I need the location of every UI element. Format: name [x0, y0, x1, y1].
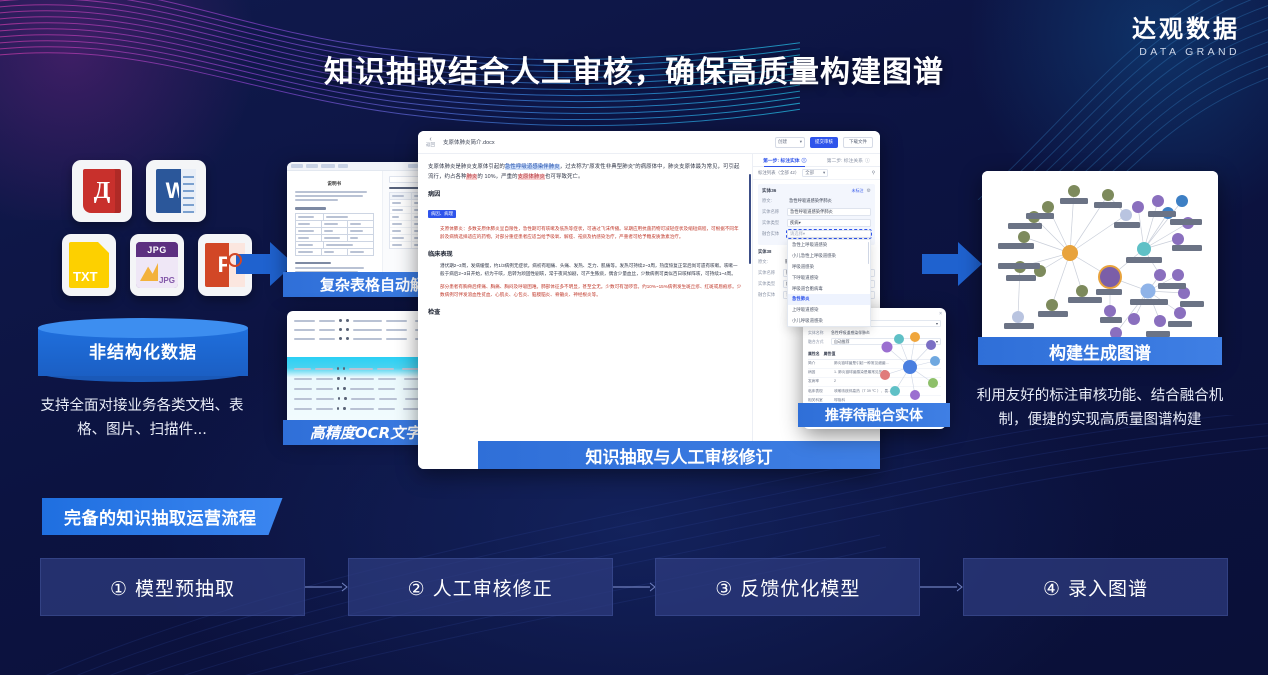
info-icon: ⓘ [802, 157, 807, 164]
col-header: 属性值 [824, 351, 836, 357]
flow-step-1[interactable]: ① 模型预抽取 [40, 558, 305, 616]
flow-steps: ① 模型预抽取 ② 人工审核修正 ③ 反馈优化模型 ④ 录入图谱 [40, 558, 1228, 616]
brand-name-cn: 达观数据 [1132, 16, 1240, 42]
entity-field-key: 原文: [758, 259, 780, 265]
left-caption: 支持全面对接业务各类文档、表格、图片、扫描件... [30, 395, 254, 443]
search-icon[interactable]: ⚲ [872, 170, 875, 176]
entity-field-row: 融合实体 请选择 ▾ 急性上呼吸道感染 小儿急性上呼吸道感染 呼吸道感染 下呼吸… [762, 230, 871, 238]
txt-file-icon: TXT [62, 234, 116, 296]
tab-annotate-entity[interactable]: 第一步: 标注实体 ⓘ [753, 154, 817, 166]
dropdown-option[interactable]: 呼吸道感染 [788, 262, 870, 273]
flow-step-2[interactable]: ② 人工审核修正 [348, 558, 613, 616]
jpg-file-icon: JPG [130, 234, 184, 296]
chevron-down-icon: ▾ [799, 220, 801, 226]
doc-highlight-3: 支原体肺炎 [518, 174, 545, 180]
dropdown-option[interactable]: 小儿急性上呼吸道感染 [788, 251, 870, 262]
cell-key: 病因 [808, 370, 830, 375]
annotation-filter-row: 标注列表（全部 42） 全部 ▾ ⚲ [753, 167, 880, 180]
submit-review-button[interactable]: 提交审核 [810, 137, 838, 148]
document-pane[interactable]: 支原体肺炎是肺炎支原体引起的急性呼吸道感染伴肺炎，过去称为"原发性非典型肺炎"的… [418, 154, 752, 469]
knowledge-graph-canvas[interactable] [982, 171, 1218, 356]
dropdown-option[interactable]: 小儿呼吸道感染 [788, 315, 870, 326]
merge-entity-placeholder: 请选择 [790, 231, 803, 237]
doc-text-d: 也可导致死亡。 [545, 174, 583, 180]
filter-value: 全部 [805, 170, 814, 176]
entity-field-row: 实体类型 疾病 ▾ [762, 219, 871, 227]
cell-key: 简介 [808, 361, 830, 366]
document-heading-3: 检查 [428, 307, 742, 316]
entity-field-key: 实体类型 [762, 220, 784, 226]
flow-arrow-3 [920, 581, 963, 593]
close-icon[interactable]: × [939, 311, 942, 317]
popup-row-value: 自动推荐 [834, 339, 850, 345]
dropdown-option[interactable]: 上呼吸道感染 [788, 305, 870, 316]
flow-step-4[interactable]: ④ 录入图谱 [963, 558, 1228, 616]
caption-graph: 构建生成图谱 [978, 337, 1222, 365]
dropdown-option[interactable]: 下呼吸道感染 [788, 272, 870, 283]
entity-field-key: 实体名称 [758, 270, 780, 276]
doc-text-c: 的 10%，严重的 [477, 174, 517, 180]
flow-step-3[interactable]: ③ 反馈优化模型 [655, 558, 920, 616]
doc-text-a: 支原体肺炎是肺炎支原体引起的 [428, 164, 505, 170]
flow-arrow-1 [305, 581, 348, 593]
entity-field-key: 融合实体 [762, 231, 784, 237]
merge-entity-select[interactable]: 请选择 ▾ [787, 230, 871, 238]
back-button[interactable]: ‹ 返回 [426, 136, 435, 149]
document-small-text-3: 部分患者有胸骨后疼痛、胸痛、胸闷及呼吸困难。肺部体征多不明显，甚至全无。少数可有… [428, 283, 742, 300]
app-header: ‹ 返回 支原体肺炎简介.docx 创建 ▾ 提交审核 下载文件 [418, 131, 880, 154]
pdf-file-icon: Д [72, 160, 132, 222]
gear-icon[interactable]: ⚙ [867, 188, 871, 194]
create-select[interactable]: 创建 ▾ [775, 137, 805, 148]
popup-row-key: 融合方式 [808, 339, 828, 345]
tab-1-label: 第一步: 标注实体 [763, 157, 800, 164]
dropdown-option-selected[interactable]: 急性肺炎 [788, 294, 870, 305]
graph-node-hub-blue [1141, 284, 1156, 299]
file-type-icons: Д W TXT JPG P [62, 160, 252, 296]
word-file-icon: W [146, 160, 206, 222]
graph-node-hub-teal [1137, 242, 1151, 256]
caption-main-app: 知识抽取与人工审核修订 [478, 441, 880, 469]
word-file-letter: W [156, 169, 196, 213]
graph-node-center [1099, 266, 1121, 288]
doc-highlight-2: 肺炎 [466, 174, 477, 180]
entity-field-key: 原文: [762, 198, 784, 204]
chevron-down-icon: ▾ [800, 139, 802, 145]
caption-recommend: 推荐待融合实体 [798, 403, 950, 427]
entity-field-row: 实体名称 急性呼吸道感染伴肺炎 [762, 208, 871, 216]
entity-card-status: 未标注 [852, 188, 864, 194]
unstructured-data-cylinder: 非结构化数据 [38, 318, 248, 388]
entity-field-key: 实体类型 [758, 281, 780, 287]
popup-mini-graph [875, 325, 945, 407]
txt-file-letter: TXT [69, 242, 109, 288]
entity-field-value: 急性呼吸道感染伴肺炎 [787, 197, 871, 205]
back-label: 返回 [426, 143, 435, 148]
filter-label: 标注列表（全部 42） [758, 170, 799, 176]
file-name: 支原体肺炎简介.docx [443, 138, 495, 146]
dropdown-option[interactable]: 急性上呼吸道感染 [788, 240, 870, 251]
info-icon: ⓘ [865, 157, 870, 164]
entity-name-input[interactable]: 急性呼吸道感染伴肺炎 [787, 208, 871, 216]
chevron-down-icon: ▾ [823, 170, 825, 176]
page-title: 知识抽取结合人工审核，确保高质量构建图谱 [0, 47, 1268, 91]
entity-2-title: 实体38 [758, 249, 780, 255]
entity-type-select[interactable]: 疾病 ▾ [787, 219, 871, 227]
create-select-value: 创建 [778, 139, 787, 145]
cell-key: 临床表现 [808, 389, 830, 394]
document-scrollbar[interactable] [749, 174, 751, 264]
right-caption: 利用友好的标注审核功能、结合融合机制，便捷的实现高质量图谱构建 [975, 385, 1225, 433]
download-file-button[interactable]: 下载文件 [843, 137, 873, 148]
slide-root: 达观数据 DATA GRAND 知识抽取结合人工审核，确保高质量构建图谱 Д W… [0, 0, 1268, 675]
col-header: 属性名 [808, 351, 820, 357]
document-heading-2: 临床表现 [428, 249, 742, 258]
entity-type-value: 疾病 [790, 220, 799, 226]
cell-key: 发病率 [808, 379, 830, 384]
tab-annotate-relation[interactable]: 第二步: 标注关系 ⓘ [817, 154, 881, 166]
entity-field-row: 原文: 急性呼吸道感染伴肺炎 [762, 197, 871, 205]
dropdown-scrollbar[interactable] [868, 242, 870, 264]
entity-field-key: 实体名称 [762, 209, 784, 215]
entity-card[interactable]: 实体36 未标注 ⚙ 原文: 急性呼吸道感染伴肺炎 实体名称 急性呼吸道感染伴肺… [758, 184, 875, 245]
arrow-right-2 [922, 240, 984, 288]
popup-row-key: 实体名称 [808, 330, 828, 336]
merge-entity-dropdown[interactable]: 急性上呼吸道感染 小儿急性上呼吸道感染 呼吸道感染 下呼吸道感染 呼吸道合胞病毒… [787, 239, 871, 327]
jpg-file-letter: JPG [136, 242, 178, 257]
graph-node-hub-orange [1062, 245, 1078, 261]
entity-card-title: 实体36 [762, 188, 776, 194]
chevron-down-icon: ▾ [803, 231, 805, 237]
tab-2-label: 第二步: 标注关系 [827, 157, 863, 164]
flow-badge: 完备的知识抽取运营流程 [42, 498, 283, 535]
document-heading-1: 病因 [428, 189, 742, 198]
cylinder-label: 非结构化数据 [38, 338, 248, 363]
dropdown-option[interactable]: 呼吸道合胞病毒 [788, 283, 870, 294]
document-small-text-2: 潜伏期2~3周，发病缓慢，约1/3病例无症状。病初有咽痛、头痛、发热、乏力、肌痛… [428, 262, 742, 279]
cell-value: 2 [834, 379, 836, 384]
document-paragraph-1: 支原体肺炎是肺炎支原体引起的急性呼吸道感染伴肺炎，过去称为"原发性非典型肺炎"的… [428, 162, 742, 182]
entity-field-key: 融合实体 [758, 292, 780, 298]
screenshot-knowledge-graph[interactable]: 实体类型 关系类型 [982, 171, 1218, 356]
filter-select[interactable]: 全部 ▾ [802, 169, 828, 177]
doc-highlight-1: 急性呼吸道感染伴肺炎 [505, 164, 560, 170]
document-small-text-1: 支原体肺炎：多数支原体肺炎呈自限性，急性期可有咳嗽及低热等症状，可通过飞沫传播。… [428, 225, 742, 242]
document-tag-1: 病因、病理 [428, 210, 456, 218]
flow-arrow-2 [613, 581, 656, 593]
annotation-tabs: 第一步: 标注实体 ⓘ 第二步: 标注关系 ⓘ [753, 154, 880, 167]
